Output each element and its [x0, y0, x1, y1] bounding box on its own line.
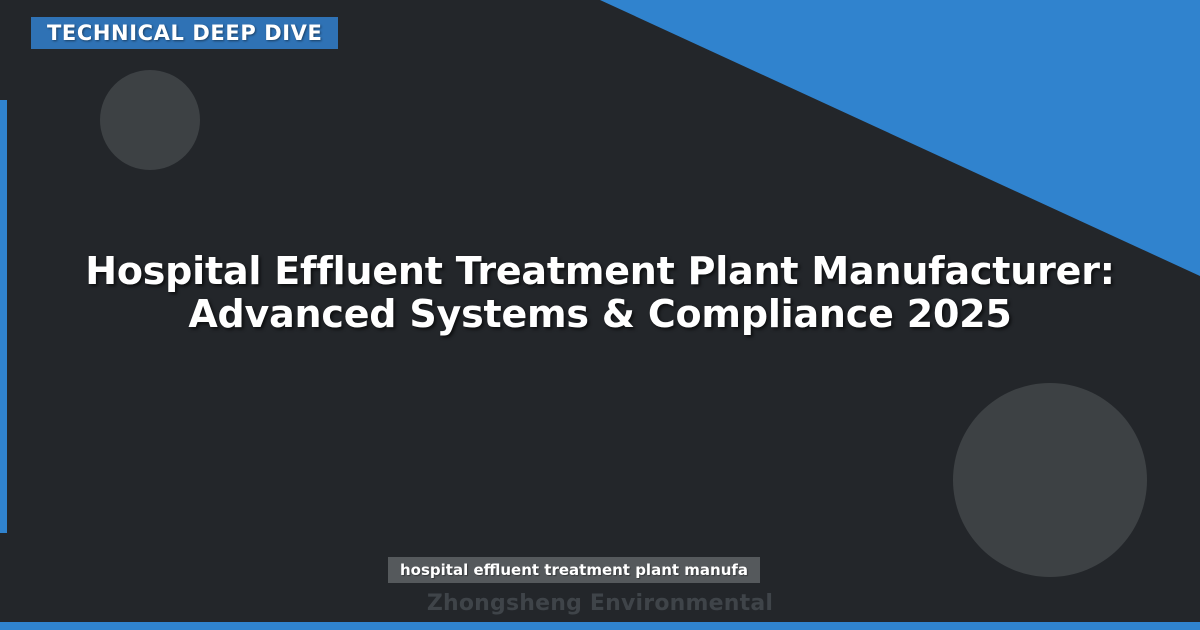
headline-container: Hospital Effluent Treatment Plant Manufa…	[0, 250, 1200, 337]
eyebrow-badge: TECHNICAL DEEP DIVE	[31, 17, 338, 49]
keyword-chip: hospital effluent treatment plant manufa	[388, 557, 760, 583]
page-title: Hospital Effluent Treatment Plant Manufa…	[70, 250, 1130, 337]
circle-decoration-bottom-right	[953, 383, 1147, 577]
brand-name: Zhongsheng Environmental	[0, 591, 1200, 617]
keyword-chip-label: hospital effluent treatment plant manufa	[400, 563, 748, 578]
circle-decoration-top-left	[100, 70, 200, 170]
social-card: TECHNICAL DEEP DIVE Hospital Effluent Tr…	[0, 0, 1200, 630]
accent-bar-bottom	[0, 622, 1200, 630]
eyebrow-badge-label: TECHNICAL DEEP DIVE	[47, 23, 322, 44]
